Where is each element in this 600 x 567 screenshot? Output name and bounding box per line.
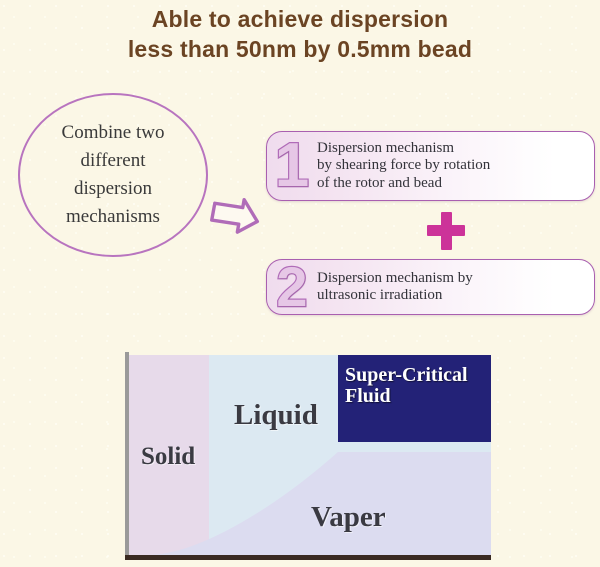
plus-icon — [427, 212, 465, 250]
mechanism-text-2: Dispersion mechanism by ultrasonic irrad… — [315, 270, 473, 305]
mechanism-number-2: 2 — [269, 259, 315, 315]
scf-label-line-2: Fluid — [345, 386, 487, 407]
phase-label-vapor: Vaper — [311, 501, 386, 534]
mechanism-1-line-3: of the rotor and bead — [317, 175, 490, 193]
mechanism-text-1: Dispersion mechanism by shearing force b… — [315, 140, 490, 193]
combine-concept-circle: Combine two different dispersion mechani… — [18, 93, 208, 257]
circle-line-4: mechanisms — [62, 203, 165, 231]
circle-line-2: different — [62, 147, 165, 175]
mechanism-1-line-1: Dispersion mechanism — [317, 140, 490, 158]
mechanism-card-1: 1 Dispersion mechanism by shearing force… — [266, 131, 595, 201]
phase-diagram-x-axis — [125, 555, 491, 560]
phase-diagram-plot: Solid Liquid Super-Critical Fluid Vaper — [129, 355, 491, 555]
arrow-right-down-icon — [206, 196, 270, 252]
mechanism-number-1: 1 — [269, 135, 315, 197]
phase-label-liquid: Liquid — [234, 399, 318, 432]
phase-label-supercritical-fluid: Super-Critical Fluid — [345, 365, 487, 407]
circle-text: Combine two different dispersion mechani… — [44, 119, 183, 231]
mechanism-2-line-1: Dispersion mechanism by — [317, 270, 473, 288]
phase-diagram: Solid Liquid Super-Critical Fluid Vaper — [125, 352, 491, 562]
plus-vertical-bar — [441, 212, 452, 250]
circle-line-1: Combine two — [62, 119, 165, 147]
circle-line-3: dispersion — [62, 175, 165, 203]
title-line-1: Able to achieve dispersion — [0, 4, 600, 34]
title-line-2: less than 50nm by 0.5mm bead — [0, 34, 600, 64]
mechanism-2-line-2: ultrasonic irradiation — [317, 287, 473, 305]
phase-label-solid: Solid — [141, 443, 195, 471]
page-title: Able to achieve dispersion less than 50n… — [0, 4, 600, 64]
mechanism-card-2: 2 Dispersion mechanism by ultrasonic irr… — [266, 259, 595, 315]
mechanism-1-line-2: by shearing force by rotation — [317, 157, 490, 175]
scf-label-line-1: Super-Critical — [345, 365, 487, 386]
